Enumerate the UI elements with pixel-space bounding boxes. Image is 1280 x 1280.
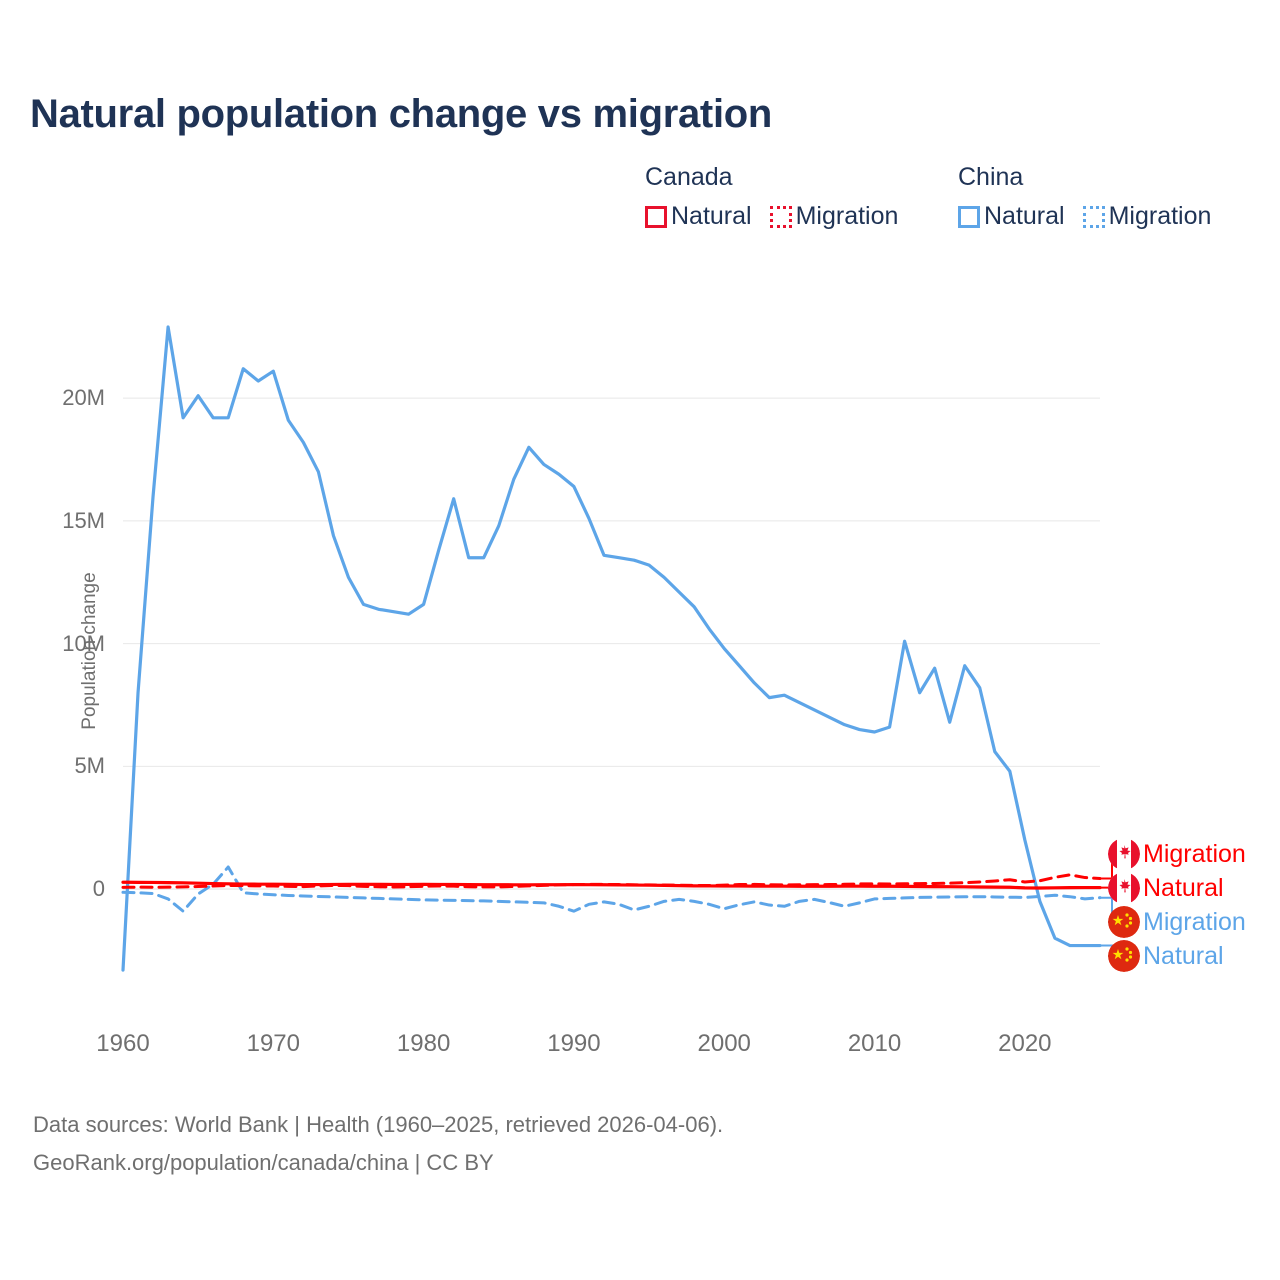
end-label-canada-migration[interactable]: Migration <box>1108 838 1246 870</box>
end-label-text: Natural <box>1143 874 1224 902</box>
y-axis-tick-label: 5M <box>15 753 105 779</box>
end-label-text: Natural <box>1143 942 1224 970</box>
plot-canvas <box>0 0 1280 1280</box>
canada-flag-icon <box>1108 838 1140 870</box>
y-axis-tick-label: 15M <box>15 508 105 534</box>
x-axis-tick-label: 1990 <box>514 1030 634 1058</box>
y-axis-tick-label: 20M <box>15 385 105 411</box>
x-axis-tick-label: 2010 <box>815 1030 935 1058</box>
end-label-china-migration[interactable]: Migration <box>1108 906 1246 938</box>
canada-flag-icon <box>1108 872 1140 904</box>
footer-line-sources: Data sources: World Bank | Health (1960–… <box>33 1106 723 1144</box>
end-label-text: Migration <box>1143 840 1246 868</box>
series-line-china-natural <box>123 327 1100 970</box>
y-axis-tick-label: 10M <box>15 631 105 657</box>
x-axis-tick-label: 2000 <box>664 1030 784 1058</box>
x-axis-tick-label: 1960 <box>63 1030 183 1058</box>
end-label-china-natural[interactable]: Natural <box>1108 940 1224 972</box>
x-axis-tick-label: 1980 <box>364 1030 484 1058</box>
plot-area: Population change 05M10M15M20M 196019701… <box>0 0 1280 1280</box>
china-flag-icon <box>1108 940 1140 972</box>
end-label-canada-natural[interactable]: Natural <box>1108 872 1224 904</box>
x-axis-tick-label: 1970 <box>213 1030 333 1058</box>
end-label-text: Migration <box>1143 908 1246 936</box>
footer-line-attribution: GeoRank.org/population/canada/china | CC… <box>33 1144 723 1182</box>
x-axis-tick-label: 2020 <box>965 1030 1085 1058</box>
chart-root: Natural population change vs migration C… <box>0 0 1280 1280</box>
china-flag-icon <box>1108 906 1140 938</box>
y-axis-tick-label: 0 <box>15 876 105 902</box>
footer: Data sources: World Bank | Health (1960–… <box>33 1106 723 1182</box>
